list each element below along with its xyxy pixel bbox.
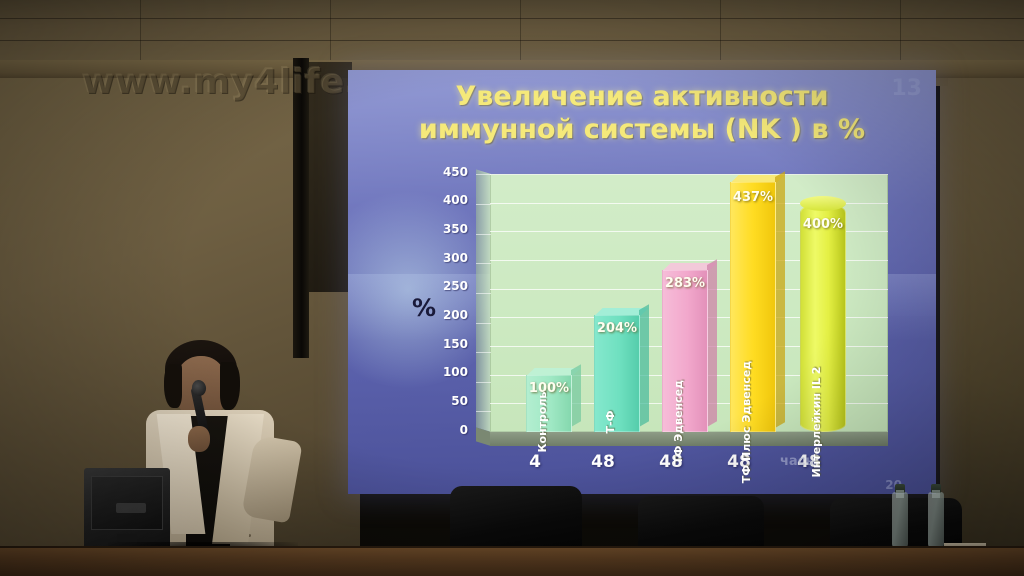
y-tick-label: 450 — [443, 165, 468, 179]
ceiling — [0, 0, 1024, 66]
chair-2 — [638, 496, 764, 548]
x-tick-label-2: 48 — [580, 452, 626, 472]
bar-5[interactable]: 400% Интерлейкин IL 2 — [800, 203, 846, 432]
x-tick-label-1: 4 — [512, 452, 558, 472]
bar-label-3: ТФ Эдвенсед — [672, 380, 685, 464]
slide-title-line-2: иммунной системы (NK ) в % — [366, 113, 918, 146]
conference-table — [0, 546, 1024, 576]
x-tick-label-4: 48 — [716, 452, 762, 472]
chart: % 450 400 350 300 250 200 150 100 50 0 — [418, 174, 918, 464]
presenter-hair-right — [220, 362, 240, 410]
bar-label-1: Контроль — [536, 392, 549, 453]
bar-label-4: ТФ Плюс Эдвенсед — [740, 361, 753, 483]
y-tick-label: 100 — [443, 365, 468, 379]
bar-3[interactable]: 283% ТФ Эдвенсед — [662, 270, 708, 432]
y-axis-ticks: 450 400 350 300 250 200 150 100 50 0 — [418, 165, 474, 437]
y-tick-label: 350 — [443, 222, 468, 236]
bar-4[interactable]: 437% ТФ Плюс Эдвенсед — [730, 182, 776, 433]
bar-value-1: 100% — [526, 381, 572, 396]
monitor-logo — [116, 503, 146, 513]
conference-room-scene: www.my4life.ru 13 20 Увеличение активнос… — [0, 0, 1024, 576]
bar-series: 100% Контроль 204% Т-Ф — [490, 174, 888, 432]
water-bottle-1 — [892, 492, 908, 548]
y-tick-label: 300 — [443, 251, 468, 265]
chair-1 — [450, 486, 582, 548]
y-tick-label: 400 — [443, 193, 468, 207]
bar-1[interactable]: 100% Контроль — [526, 375, 572, 432]
plot-floor — [490, 432, 888, 446]
presenter-hand — [188, 426, 210, 452]
page-title: Увеличение активности иммунной системы (… — [348, 80, 936, 147]
dark-column — [293, 58, 309, 358]
plot-area: 100% Контроль 204% Т-Ф — [476, 174, 888, 446]
plot-side-wall — [476, 169, 491, 432]
projection-screen: 13 20 Увеличение активности иммунной сис… — [348, 70, 936, 494]
y-tick-label: 0 — [460, 423, 468, 437]
bar-2[interactable]: 204% Т-Ф — [594, 315, 640, 432]
bar-label-5: Интерлейкин IL 2 — [810, 367, 823, 478]
y-tick-label: 250 — [443, 279, 468, 293]
bottle-neck — [932, 490, 940, 498]
bar-value-3: 283% — [662, 276, 708, 291]
x-tick-label-3: 48 — [648, 452, 694, 472]
bar-label-2: Т-Ф — [604, 411, 617, 434]
bottle-neck — [896, 490, 904, 498]
y-tick-label: 50 — [451, 394, 468, 408]
monitor-screen — [91, 476, 163, 530]
presenter-hair-left — [164, 364, 182, 408]
water-bottle-2 — [928, 492, 944, 548]
bar-value-4: 437% — [730, 190, 776, 205]
bar-value-5: 400% — [800, 217, 846, 232]
bar-value-2: 204% — [594, 321, 640, 336]
y-tick-label: 200 — [443, 308, 468, 322]
slide-title-line-1: Увеличение активности — [366, 80, 918, 113]
y-tick-label: 150 — [443, 337, 468, 351]
